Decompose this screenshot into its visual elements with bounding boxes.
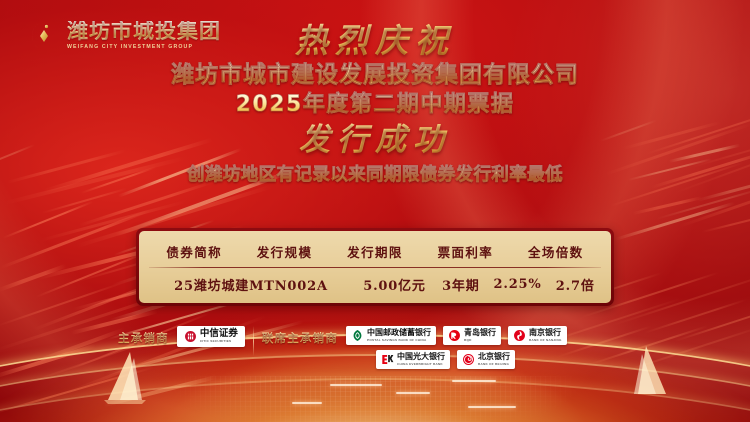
table-header-row: 债券简称发行规模发行期限票面利率全场倍数 bbox=[149, 238, 601, 267]
lead-underwriter-label: 主承销商 bbox=[118, 322, 169, 346]
brand-logo: 潍坊市城投集团 WEIFANG CITY INVESTMENT GROUP bbox=[22, 18, 221, 54]
underwriter-name-en: CHINA EVERBRIGHT BANK bbox=[397, 363, 443, 366]
brand-name-en: WEIFANG CITY INVESTMENT GROUP bbox=[67, 45, 221, 50]
underwriter-name-cn: 南京银行 bbox=[529, 329, 561, 337]
psbc-logo-icon bbox=[351, 329, 364, 342]
lead-underwriter-logos: 中信证券CITIC SECURITIES bbox=[177, 326, 245, 347]
sponsor-strip: 主承销商 中信证券CITIC SECURITIES 联席主承销商 中国邮政储蓄银… bbox=[118, 322, 638, 369]
table-header-cell: 票面利率 bbox=[420, 238, 510, 267]
bqd-logo-icon bbox=[448, 329, 461, 342]
floor-dash-2 bbox=[396, 392, 430, 394]
table-cell: 2.7倍 bbox=[549, 268, 601, 297]
headline-success: 发行成功 bbox=[0, 122, 750, 159]
joint-underwriter-logos-row-1: 中国邮政储蓄银行POSTAL SAVINGS BANK OF CHINA青岛银行… bbox=[346, 326, 567, 345]
underwriter-name-en: BANK OF BEIJING bbox=[478, 363, 509, 366]
table-body: 25潍坊城建MTN002A5.00亿元3年期2.25%2.7倍 bbox=[149, 268, 601, 297]
underwriter-name-en: BANK OF NANJING bbox=[529, 339, 562, 342]
perspective-grid-floor bbox=[170, 376, 580, 422]
underwriter-logo-chip[interactable]: 中国光大银行CHINA EVERBRIGHT BANK bbox=[376, 350, 450, 369]
crescent-diamond-mark-icon bbox=[22, 18, 58, 54]
floor-dash-1 bbox=[330, 384, 382, 386]
nanjing-logo-icon bbox=[513, 329, 526, 342]
ribbon-streak bbox=[3, 201, 93, 239]
table-row: 25潍坊城建MTN002A5.00亿元3年期2.25%2.7倍 bbox=[149, 268, 601, 297]
brand-name-cn: 潍坊市城投集团 bbox=[67, 21, 221, 42]
bond-detail-card: 债券简称发行规模发行期限票面利率全场倍数 25潍坊城建MTN002A5.00亿元… bbox=[136, 228, 614, 306]
sponsor-divider bbox=[253, 326, 254, 356]
citic-logo-icon bbox=[184, 330, 197, 343]
underwriter-name-cn: 中国邮政储蓄银行 bbox=[367, 329, 431, 337]
ribbon-streak bbox=[79, 180, 214, 226]
joint-underwriter-label: 联席主承销商 bbox=[262, 322, 338, 346]
ribbon-streak bbox=[615, 201, 735, 240]
table-header-cell: 发行规模 bbox=[239, 238, 329, 267]
table-header-cell: 债券简称 bbox=[149, 238, 239, 267]
underwriter-logo-chip[interactable]: 南京银行BANK OF NANJING bbox=[508, 326, 567, 345]
ribbon-streak bbox=[633, 196, 703, 215]
table-header-cell: 全场倍数 bbox=[511, 238, 601, 267]
underwriter-name-cn: 中信证券 bbox=[200, 329, 238, 339]
table-cell: 2.25% bbox=[486, 268, 550, 297]
underwriter-logo-chip[interactable]: 青岛银行BQD bbox=[443, 326, 501, 345]
issue-name-line: 2025年度第二期中期票据 bbox=[0, 91, 750, 120]
celebration-poster: 潍坊市城投集团 WEIFANG CITY INVESTMENT GROUP 热烈… bbox=[0, 0, 750, 422]
floor-dash-5 bbox=[468, 406, 516, 408]
underwriter-name-cn: 北京银行 bbox=[478, 353, 510, 361]
company-name-line: 潍坊市城市建设发展投资集团有限公司 bbox=[0, 60, 750, 91]
ribbon-streak bbox=[702, 211, 750, 233]
ribbon-streak bbox=[656, 187, 750, 219]
floor-dash-3 bbox=[452, 380, 496, 382]
joint-underwriter-logos-row-2: 中国光大银行CHINA EVERBRIGHT BANK北京银行BANK OF B… bbox=[346, 350, 567, 369]
table-header-cell: 发行期限 bbox=[330, 238, 420, 267]
ribbon-streak bbox=[36, 249, 152, 297]
underwriter-name-cn: 中国光大银行 bbox=[397, 353, 445, 361]
everbright-logo-icon bbox=[381, 353, 394, 366]
record-highlight-line: 创潍坊地区有记录以来同期限债券发行利率最低 bbox=[0, 164, 750, 187]
underwriter-logo-chip[interactable]: 北京银行BANK OF BEIJING bbox=[457, 350, 515, 369]
underwriter-name-cn: 青岛银行 bbox=[464, 329, 496, 337]
ribbon-streak bbox=[1, 209, 150, 268]
floor-dash-4 bbox=[292, 402, 322, 404]
ribbon-streak bbox=[42, 188, 127, 214]
underwriter-name-en: POSTAL SAVINGS BANK OF CHINA bbox=[367, 339, 426, 342]
underwriter-name-en: BQD bbox=[464, 339, 472, 342]
table-cell: 3年期 bbox=[436, 268, 486, 297]
ribbon-streak bbox=[0, 263, 66, 291]
table-cell: 25潍坊城建MTN002A bbox=[149, 268, 353, 297]
table-cell: 5.00亿元 bbox=[353, 268, 436, 297]
bond-detail-table: 债券简称发行规模发行期限票面利率全场倍数 bbox=[149, 238, 601, 267]
underwriter-logo-chip[interactable]: 中信证券CITIC SECURITIES bbox=[177, 326, 245, 347]
underwriter-name-en: CITIC SECURITIES bbox=[200, 340, 232, 343]
beijing-logo-icon bbox=[462, 353, 475, 366]
underwriter-logo-chip[interactable]: 中国邮政储蓄银行POSTAL SAVINGS BANK OF CHINA bbox=[346, 326, 436, 345]
